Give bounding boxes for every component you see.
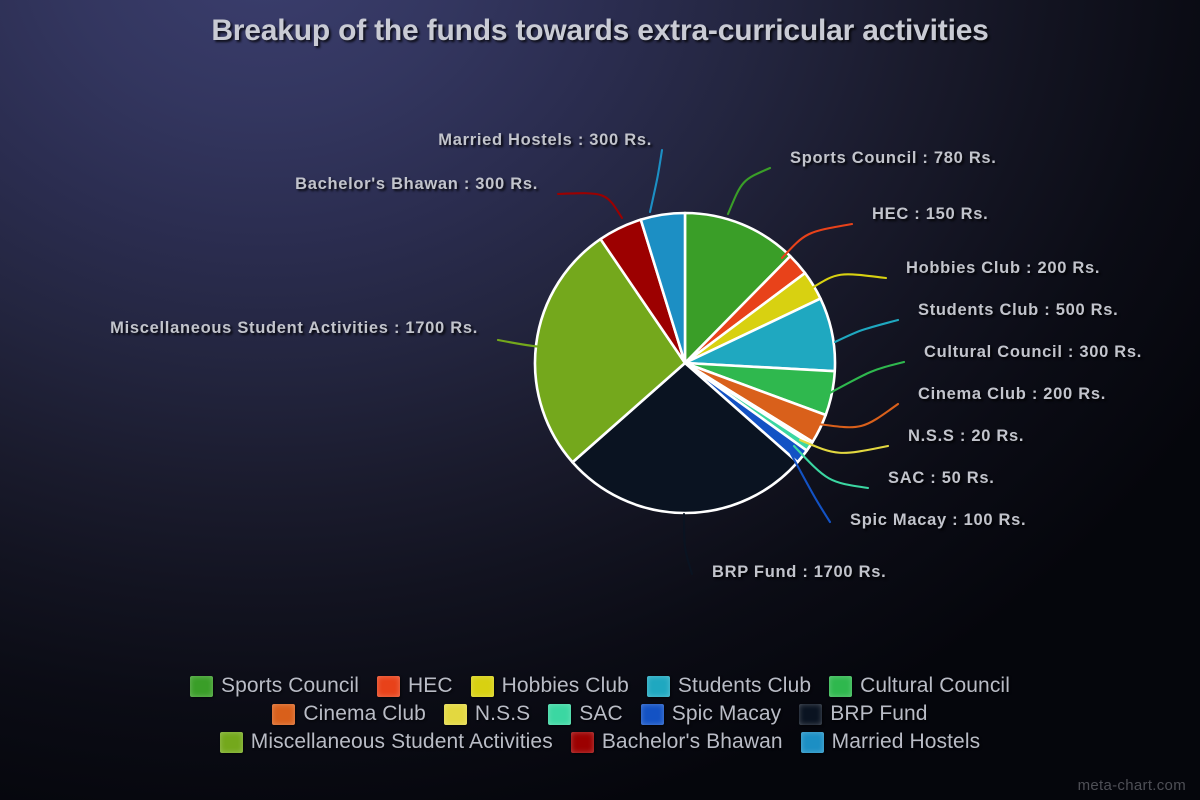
legend-swatch-spic-macay	[641, 704, 664, 725]
callout-label-hobbies-club: Hobbies Club : 200 Rs.	[906, 259, 1100, 278]
callout-label-n-s-s: N.S.S : 20 Rs.	[908, 427, 1024, 446]
legend-item-sports-council[interactable]: Sports Council	[190, 674, 359, 698]
callout-label-sac: SAC : 50 Rs.	[888, 469, 995, 488]
legend-label-cinema-club: Cinema Club	[303, 702, 426, 726]
legend-item-married-hostels[interactable]: Married Hostels	[801, 730, 981, 754]
leader-line-hobbies-club	[812, 274, 886, 288]
legend-swatch-hobbies-club	[471, 676, 494, 697]
legend-swatch-n-s-s	[444, 704, 467, 725]
pie-slices	[535, 213, 835, 513]
callout-label-sports-council: Sports Council : 780 Rs.	[790, 149, 997, 168]
legend-item-spic-macay[interactable]: Spic Macay	[641, 702, 782, 726]
callout-label-brp-fund: BRP Fund : 1700 Rs.	[712, 563, 886, 582]
legend-swatch-bachelor-s-bhawan	[571, 732, 594, 753]
legend-swatch-miscellaneous-student-activities	[220, 732, 243, 753]
legend-label-cultural-council: Cultural Council	[860, 674, 1010, 698]
leader-line-hec	[782, 224, 852, 258]
leader-line-brp-fund	[684, 514, 692, 574]
leader-line-married-hostels	[650, 150, 662, 212]
legend-label-sac: SAC	[579, 702, 622, 726]
legend-row: Sports CouncilHECHobbies ClubStudents Cl…	[0, 672, 1200, 700]
legend-label-n-s-s: N.S.S	[475, 702, 530, 726]
legend-row: Cinema ClubN.S.SSACSpic MacayBRP Fund	[0, 700, 1200, 728]
legend-swatch-cultural-council	[829, 676, 852, 697]
legend-swatch-hec	[377, 676, 400, 697]
legend-swatch-sac	[548, 704, 571, 725]
legend-item-brp-fund[interactable]: BRP Fund	[799, 702, 927, 726]
callout-label-miscellaneous-student-activities: Miscellaneous Student Activities : 1700 …	[110, 319, 478, 338]
callout-label-bachelor-s-bhawan: Bachelor's Bhawan : 300 Rs.	[295, 175, 538, 194]
legend-label-miscellaneous-student-activities: Miscellaneous Student Activities	[251, 730, 553, 754]
leader-line-sports-council	[728, 168, 770, 214]
legend-label-spic-macay: Spic Macay	[672, 702, 782, 726]
legend-item-students-club[interactable]: Students Club	[647, 674, 811, 698]
legend-label-bachelor-s-bhawan: Bachelor's Bhawan	[602, 730, 783, 754]
legend-label-hobbies-club: Hobbies Club	[502, 674, 629, 698]
chart-legend: Sports CouncilHECHobbies ClubStudents Cl…	[0, 672, 1200, 756]
legend-label-brp-fund: BRP Fund	[830, 702, 927, 726]
leader-line-bachelor-s-bhawan	[558, 193, 622, 218]
callout-label-spic-macay: Spic Macay : 100 Rs.	[850, 511, 1026, 530]
watermark: meta-chart.com	[1078, 777, 1186, 794]
legend-label-students-club: Students Club	[678, 674, 811, 698]
leader-line-cultural-council	[828, 362, 904, 394]
legend-label-hec: HEC	[408, 674, 453, 698]
callout-label-hec: HEC : 150 Rs.	[872, 205, 988, 224]
leader-line-students-club	[835, 320, 898, 342]
legend-item-hobbies-club[interactable]: Hobbies Club	[471, 674, 629, 698]
legend-item-hec[interactable]: HEC	[377, 674, 453, 698]
legend-item-sac[interactable]: SAC	[548, 702, 622, 726]
legend-item-cultural-council[interactable]: Cultural Council	[829, 674, 1010, 698]
chart-canvas: Breakup of the funds towards extra-curri…	[0, 0, 1200, 800]
legend-item-cinema-club[interactable]: Cinema Club	[272, 702, 426, 726]
leader-line-cinema-club	[818, 404, 898, 427]
legend-label-married-hostels: Married Hostels	[832, 730, 981, 754]
legend-swatch-brp-fund	[799, 704, 822, 725]
legend-label-sports-council: Sports Council	[221, 674, 359, 698]
legend-item-miscellaneous-student-activities[interactable]: Miscellaneous Student Activities	[220, 730, 553, 754]
legend-item-bachelor-s-bhawan[interactable]: Bachelor's Bhawan	[571, 730, 783, 754]
callout-label-married-hostels: Married Hostels : 300 Rs.	[438, 131, 652, 150]
legend-swatch-cinema-club	[272, 704, 295, 725]
callout-label-cultural-council: Cultural Council : 300 Rs.	[924, 343, 1142, 362]
callout-label-students-club: Students Club : 500 Rs.	[918, 301, 1118, 320]
legend-item-n-s-s[interactable]: N.S.S	[444, 702, 530, 726]
legend-row: Miscellaneous Student ActivitiesBachelor…	[0, 728, 1200, 756]
legend-swatch-married-hostels	[801, 732, 824, 753]
legend-swatch-sports-council	[190, 676, 213, 697]
callout-label-cinema-club: Cinema Club : 200 Rs.	[918, 385, 1106, 404]
legend-swatch-students-club	[647, 676, 670, 697]
